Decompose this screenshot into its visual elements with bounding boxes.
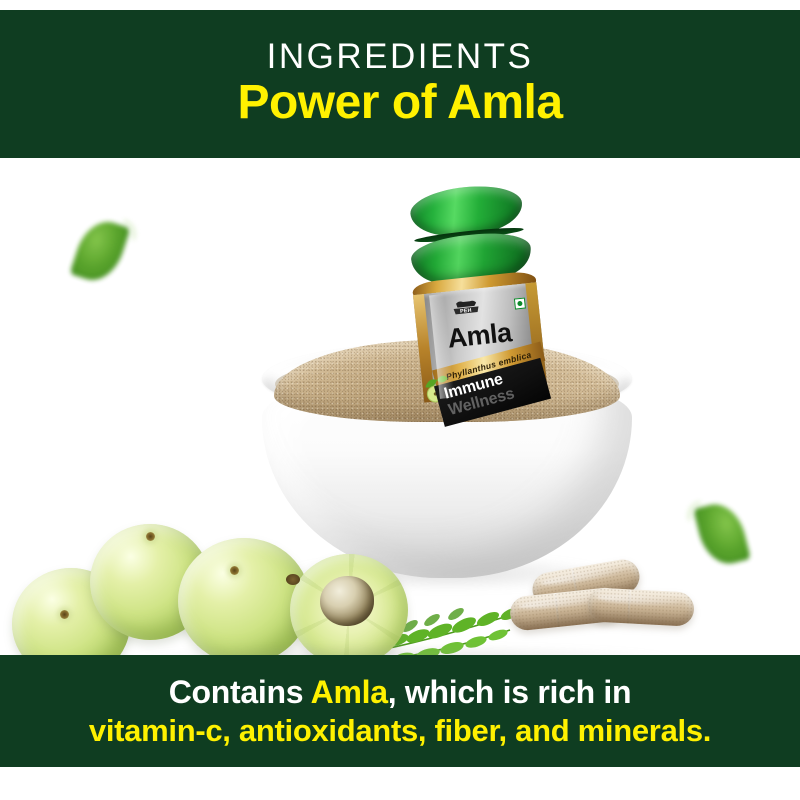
fruit-ridges <box>186 546 302 655</box>
fruit-seed <box>320 576 374 626</box>
capsule-seam <box>554 593 560 627</box>
footer-line-1-suffix: , which is rich in <box>388 674 632 710</box>
amla-fruit-halved <box>290 554 408 655</box>
herbal-capsule-3 <box>587 587 695 627</box>
footer-line-1-highlight: Amla <box>311 674 388 710</box>
header-banner: INGREDIENTS Power of Amla <box>0 10 800 158</box>
footer-banner: Contains Amla, which is rich in vitamin-… <box>0 655 800 767</box>
supplement-bottle: PEH Amla Phyllanthus emblica Im <box>394 180 557 423</box>
footer-line-1-prefix: Contains <box>169 674 311 710</box>
fruit-stem <box>146 532 155 541</box>
vegetarian-mark-icon <box>514 298 526 310</box>
header-headline: Power of Amla <box>237 78 562 128</box>
brand-logo-icon: PEH <box>448 298 484 318</box>
footer-line-2: vitamin-c, antioxidants, fiber, and mine… <box>89 712 711 751</box>
footer-line-1: Contains Amla, which is rich in <box>169 672 632 712</box>
scene-ground-shadow <box>120 644 680 655</box>
product-ingredient-poster: INGREDIENTS Power of Amla <box>0 0 800 800</box>
product-photo-stage: PEH Amla Phyllanthus emblica Im <box>0 158 800 655</box>
capsule-seam <box>627 589 631 623</box>
fruit-stem-nub <box>286 574 300 585</box>
header-kicker: INGREDIENTS <box>267 39 534 74</box>
fruit-stem <box>60 610 69 619</box>
floating-leaf-right-icon <box>693 499 751 570</box>
brand-logo-text: PEH <box>460 308 472 315</box>
fruit-stem <box>230 566 239 575</box>
floating-leaf-left-icon <box>69 215 130 288</box>
amla-fruit-3 <box>178 538 310 655</box>
capsule-shine <box>597 592 682 605</box>
